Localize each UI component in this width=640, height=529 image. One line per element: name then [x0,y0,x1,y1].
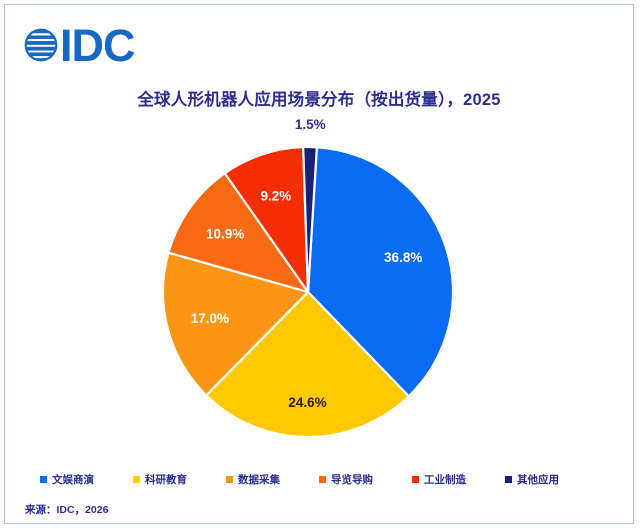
idc-logo: IDC [23,19,135,71]
legend-label: 其他应用 [517,472,559,487]
chart-legend: 文娱商演科研教育数据采集导览导购工业制造其他应用 [5,469,633,489]
source-note: 来源：IDC，2026 [25,502,108,517]
pie-slice-label: 9.2% [261,189,292,204]
legend-label: 科研教育 [145,472,187,487]
legend-swatch-icon [226,476,233,483]
legend-item[interactable]: 工业制造 [412,472,505,487]
globe-icon [23,27,59,63]
legend-label: 文娱商演 [52,472,94,487]
idc-wordmark: IDC [60,23,135,68]
legend-swatch-icon [505,476,512,483]
legend-item[interactable]: 其他应用 [505,472,598,487]
legend-item[interactable]: 科研教育 [133,472,226,487]
pie-slice-label: 24.6% [288,395,326,410]
pie-chart: 36.8%24.6%17.0%10.9%9.2%1.5% [5,115,633,460]
legend-swatch-icon [133,476,140,483]
legend-item[interactable]: 数据采集 [226,472,319,487]
pie-slice-label: 36.8% [384,250,422,265]
legend-label: 工业制造 [424,472,466,487]
pie-slice-label: 10.9% [206,226,244,241]
legend-label: 数据采集 [238,472,280,487]
legend-swatch-icon [40,476,47,483]
legend-item[interactable]: 文娱商演 [40,472,133,487]
legend-label: 导览导购 [331,472,373,487]
pie-slice-label: 17.0% [191,311,229,326]
legend-item[interactable]: 导览导购 [319,472,412,487]
pie-slice-label: 1.5% [295,117,326,132]
slide-frame: IDC 全球人形机器人应用场景分布（按出货量），2025 36.8%24.6%1… [4,4,634,524]
legend-swatch-icon [412,476,419,483]
pie-svg: 36.8%24.6%17.0%10.9%9.2%1.5% [5,115,633,460]
chart-title: 全球人形机器人应用场景分布（按出货量），2025 [5,86,633,110]
legend-swatch-icon [319,476,326,483]
